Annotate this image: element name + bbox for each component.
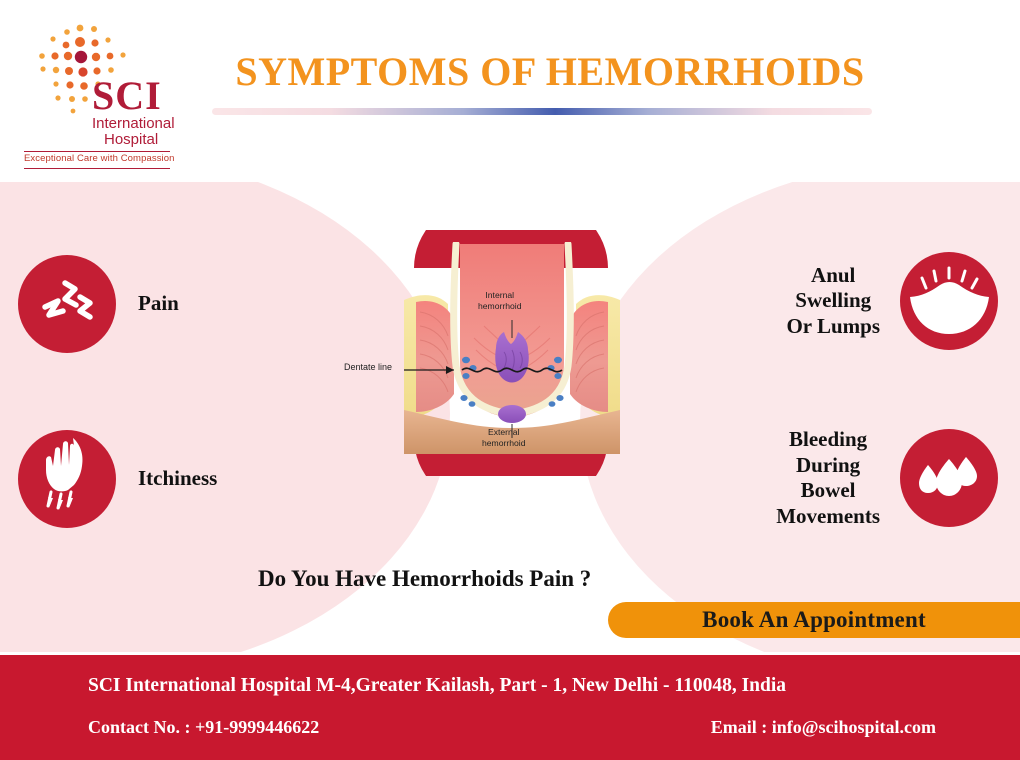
footer-bar: SCI International Hospital M-4,Greater K…	[0, 655, 1020, 760]
cta-question-text: Do You Have Hemorrhoids Pain ?	[258, 566, 591, 592]
footer-email[interactable]: Email : info@scihospital.com	[711, 717, 936, 738]
symptom-item-itchiness[interactable]: Itchiness	[18, 430, 217, 528]
footer-contact-number[interactable]: Contact No. : +91-9999446622	[88, 717, 319, 738]
logo-line-international: International	[92, 116, 175, 132]
hemorrhoids-symptoms-infographic: SCI International Hospital Exceptional C…	[0, 0, 1020, 760]
label-line: Internal	[478, 290, 521, 301]
book-appointment-button[interactable]: Book An Appointment	[608, 602, 1020, 638]
itching-hand-icon	[18, 430, 116, 528]
symptom-item-swelling[interactable]: Anul Swelling Or Lumps	[786, 252, 998, 350]
symptom-label-line: Bowel	[776, 478, 880, 504]
symptom-label-line: During	[776, 453, 880, 479]
logo-line-hospital: Hospital	[104, 132, 158, 148]
symptom-item-pain[interactable]: Pain	[18, 255, 179, 353]
header-bar: SCI International Hospital Exceptional C…	[0, 0, 1020, 182]
logo-tagline: Exceptional Care with Compassion	[24, 153, 174, 164]
pain-zigzag-icon	[18, 255, 116, 353]
title-divider	[212, 108, 872, 115]
label-dentate-line: Dentate line	[344, 362, 392, 373]
swelling-lump-icon	[900, 252, 998, 350]
logo-divider-top	[24, 151, 170, 152]
label-external-hemorrhoid: External hemorrhoid	[482, 427, 525, 448]
symptom-item-bleeding[interactable]: Bleeding During Bowel Movements	[776, 427, 998, 529]
symptom-label-line: Or Lumps	[786, 314, 880, 340]
symptom-icon-badge	[18, 430, 116, 528]
blood-drops-icon	[900, 429, 998, 527]
logo-divider-bottom	[24, 168, 170, 169]
page-title: SYMPTOMS OF HEMORRHOIDS	[200, 48, 900, 95]
symptom-label-itchiness: Itchiness	[138, 466, 217, 492]
symptom-label-swelling: Anul Swelling Or Lumps	[786, 263, 880, 340]
symptom-icon-badge	[18, 255, 116, 353]
footer-address: SCI International Hospital M-4,Greater K…	[88, 675, 786, 697]
symptom-label-bleeding: Bleeding During Bowel Movements	[776, 427, 880, 529]
symptom-label-pain: Pain	[138, 291, 179, 317]
symptom-label-line: Anul	[786, 263, 880, 289]
label-line: hemorrhoid	[482, 438, 525, 449]
book-appointment-label: Book An Appointment	[702, 607, 926, 633]
symptom-label-line: Swelling	[786, 288, 880, 314]
label-internal-hemorrhoid: Internal hemorrhoid	[478, 290, 521, 311]
symptom-icon-badge	[900, 429, 998, 527]
content-stage: Pain Itchines	[0, 182, 1020, 652]
label-line: hemorrhoid	[478, 301, 521, 312]
hemorrhoid-anatomy-illustration: Internal hemorrhoid External hemorrhoid …	[404, 202, 620, 512]
symptom-label-line: Bleeding	[776, 427, 880, 453]
label-line: External	[482, 427, 525, 438]
symptom-icon-badge	[900, 252, 998, 350]
logo-wordmark: SCI	[92, 76, 162, 116]
symptom-label-line: Movements	[776, 504, 880, 530]
hospital-logo: SCI International Hospital Exceptional C…	[18, 18, 178, 166]
